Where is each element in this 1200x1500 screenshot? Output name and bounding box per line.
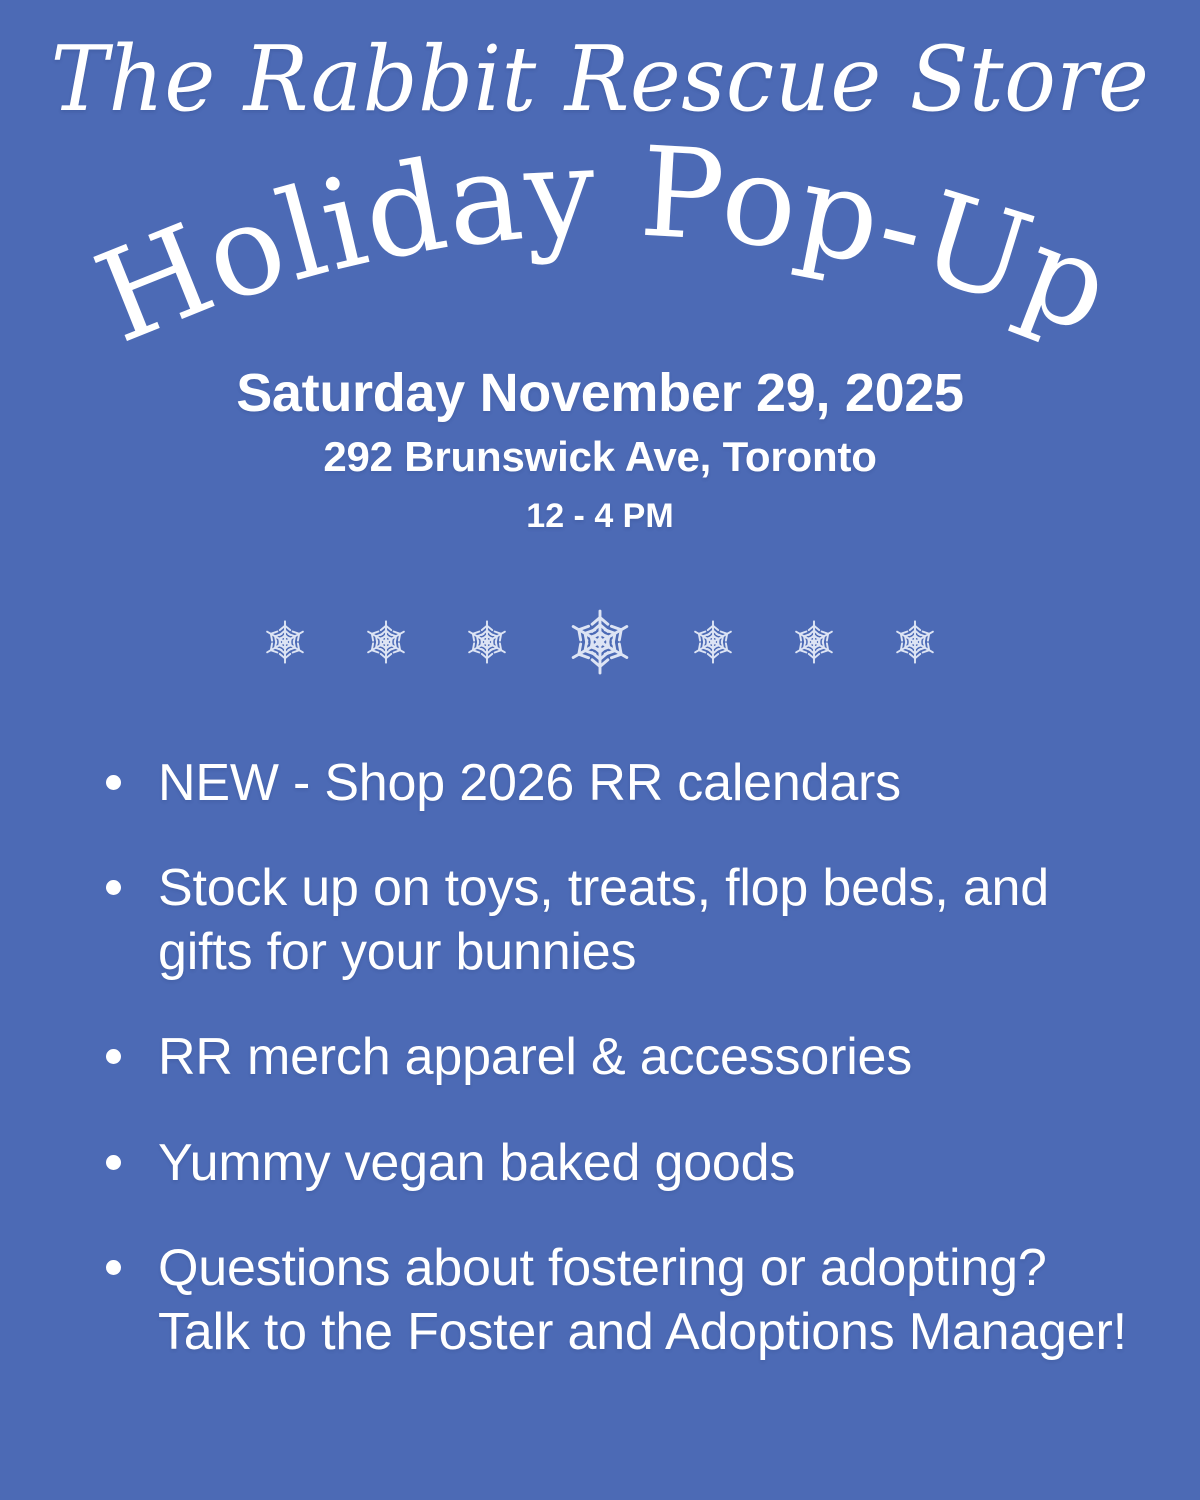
list-item: RR merch apparel & accessories	[100, 1026, 1140, 1089]
headline-arc-svg: Holiday Pop-Up	[0, 160, 1200, 350]
list-item: Yummy vegan baked goods	[100, 1132, 1140, 1195]
headline-container: Holiday Pop-Up	[0, 160, 1200, 350]
bullet-dot-icon	[106, 775, 121, 790]
headline-text: Holiday Pop-Up	[78, 121, 1130, 372]
bullet-dot-icon	[106, 1049, 121, 1064]
bullet-dot-icon	[106, 880, 121, 895]
event-date: Saturday November 29, 2025	[0, 362, 1200, 425]
list-item-label: Yummy vegan baked goods	[158, 1134, 795, 1192]
snowflake-icon	[261, 618, 309, 666]
list-item-label: Stock up on toys, treats, flop beds, and…	[158, 859, 1049, 980]
brand-title: The Rabbit Rescue Store	[0, 26, 1200, 135]
list-item: Questions about fostering or adopting? T…	[100, 1237, 1140, 1364]
snowflake-icon	[891, 618, 939, 666]
event-address: 292 Brunswick Ave, Toronto	[0, 425, 1200, 488]
bullet-dot-icon	[106, 1155, 121, 1170]
snowflake-icon	[689, 618, 737, 666]
event-details: Saturday November 29, 2025 292 Brunswick…	[0, 362, 1200, 544]
snowflake-icon	[463, 618, 511, 666]
bullet-dot-icon	[106, 1260, 121, 1275]
poster-canvas: The Rabbit Rescue Store Holiday Pop-Up S…	[0, 0, 1200, 1500]
list-item-label: NEW - Shop 2026 RR calendars	[158, 754, 901, 812]
list-item: NEW - Shop 2026 RR calendars	[100, 752, 1140, 815]
snowflake-icon	[790, 618, 838, 666]
list-item-label: RR merch apparel & accessories	[158, 1028, 912, 1086]
snowflake-divider	[0, 600, 1200, 684]
snowflake-icon	[362, 618, 410, 666]
snowflake-icon	[564, 606, 636, 678]
feature-list: NEW - Shop 2026 RR calendarsStock up on …	[100, 752, 1140, 1364]
event-time: 12 - 4 PM	[0, 488, 1200, 544]
list-item: Stock up on toys, treats, flop beds, and…	[100, 857, 1140, 984]
list-item-label: Questions about fostering or adopting? T…	[158, 1239, 1127, 1360]
